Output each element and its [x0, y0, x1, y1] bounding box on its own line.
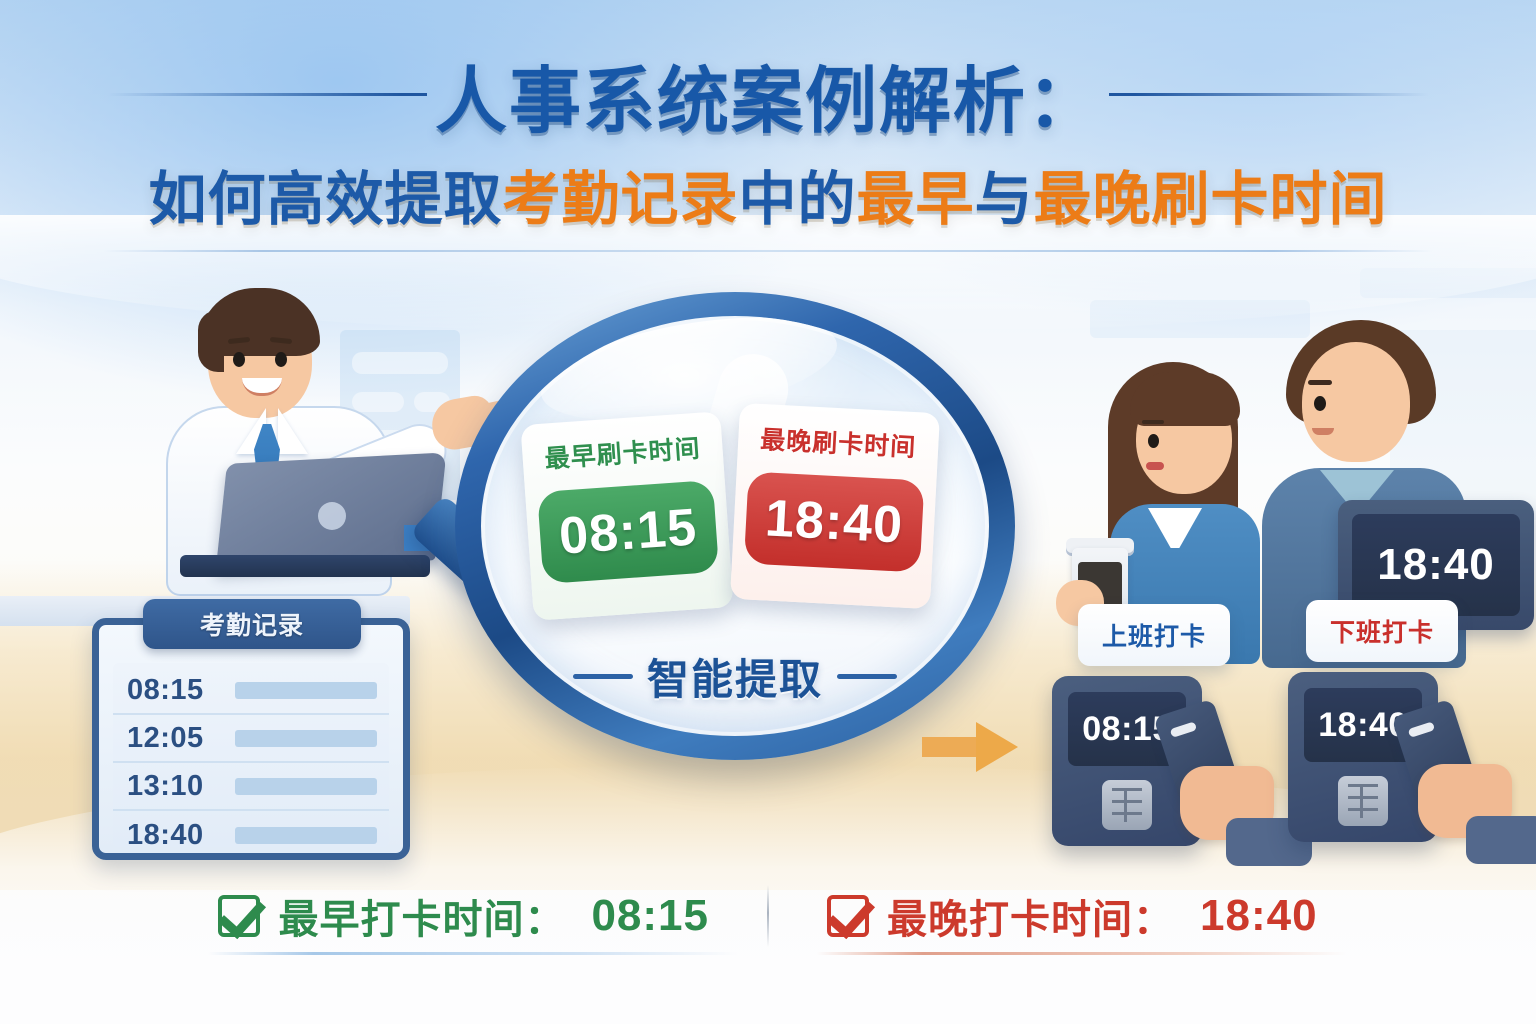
record-time: 12:05 — [127, 722, 235, 755]
card-sensor-icon — [1338, 776, 1388, 826]
wall-clock-time: 18:40 — [1377, 540, 1495, 590]
poster-header: 人事系统案例解析： 如何高效提取考勤记录中的最早与最晚刷卡时间 — [0, 38, 1536, 252]
latest-punch-value: 18:40 — [744, 471, 925, 572]
bg-panel — [1360, 268, 1536, 298]
summary-latest-value: 18:40 — [1200, 891, 1318, 941]
record-placeholder-bar — [235, 778, 377, 795]
lips — [1146, 462, 1164, 470]
page-subtitle: 如何高效提取考勤记录中的最早与最晚刷卡时间 — [0, 152, 1536, 236]
clipboard-title-label: 考勤记录 — [200, 606, 304, 642]
summary-underline — [208, 952, 737, 955]
check-in-badge-label: 上班打卡 — [1102, 617, 1206, 653]
laptop-logo — [318, 502, 346, 530]
title-rule-right — [1109, 93, 1429, 96]
record-placeholder-bar — [235, 730, 377, 747]
sleeve-cuff — [1466, 816, 1536, 864]
arrow-right-orange-icon — [922, 722, 1018, 772]
latest-punch-label: 最晚刷卡时间 — [750, 420, 928, 465]
check-out-badge: 下班打卡 — [1306, 600, 1458, 662]
title-rule-left — [107, 93, 427, 96]
subtitle-part-4: 最早 — [857, 167, 975, 232]
arrow-head — [976, 722, 1018, 772]
attendance-record-clipboard: 考勤记录 08:15 12:05 13:10 18:40 — [92, 618, 410, 860]
record-time: 18:40 — [127, 819, 235, 852]
smile — [1312, 428, 1334, 435]
summary-earliest: 最早打卡时间： 08:15 — [160, 887, 767, 945]
clipboard-list: 08:15 12:05 13:10 18:40 — [113, 663, 389, 847]
summary-earliest-label: 最早打卡时间： — [278, 887, 565, 945]
eye — [1148, 434, 1159, 448]
earliest-punch-label: 最早刷卡时间 — [533, 428, 711, 476]
laptop-base — [180, 555, 430, 577]
check-mark-icon — [218, 895, 260, 937]
subtitle-part-5: 与 — [975, 167, 1034, 232]
check-mark-icon — [827, 895, 869, 937]
list-item: 18:40 — [113, 811, 389, 859]
caption-rule-right — [837, 674, 897, 679]
magnifier-caption: 智能提取 — [481, 646, 989, 707]
subtitle-underline — [103, 250, 1433, 252]
record-placeholder-bar — [235, 682, 377, 699]
eyebrow — [1308, 380, 1332, 385]
eye — [1314, 396, 1326, 411]
arrow-shaft — [922, 737, 982, 757]
record-placeholder-bar — [235, 827, 377, 844]
magnifier-illustration: 最早刷卡时间 08:15 最晚刷卡时间 18:40 智能提取 — [455, 292, 1015, 760]
collar — [278, 408, 308, 454]
hair-side — [198, 310, 224, 372]
subtitle-part-2: 考勤记录 — [502, 167, 738, 232]
summary-latest: 最晚打卡时间： 18:40 — [769, 887, 1376, 945]
clipboard-title-tab: 考勤记录 — [143, 599, 361, 649]
record-time: 08:15 — [127, 674, 235, 707]
summary-underline — [817, 952, 1346, 955]
subtitle-part-1: 如何高效提取 — [148, 167, 502, 232]
eyebrow — [1142, 420, 1164, 424]
check-out-badge-label: 下班打卡 — [1330, 613, 1434, 649]
caption-rule-left — [573, 674, 633, 679]
summary-latest-label: 最晚打卡时间： — [887, 887, 1174, 945]
summary-footer: 最早打卡时间： 08:15 最晚打卡时间： 18:40 — [0, 868, 1536, 964]
card-sensor-icon — [1102, 780, 1152, 830]
latest-punch-card: 最晚刷卡时间 18:40 — [730, 403, 940, 609]
page-title: 人事系统案例解析： — [435, 42, 1101, 147]
list-item: 08:15 — [113, 667, 389, 715]
record-time: 13:10 — [127, 770, 235, 803]
earliest-punch-value: 08:15 — [537, 480, 719, 584]
result-cards: 最早刷卡时间 08:15 最晚刷卡时间 18:40 — [527, 408, 945, 604]
earliest-punch-card: 最早刷卡时间 08:15 — [520, 411, 733, 620]
subtitle-part-6: 最晚刷卡时间 — [1034, 167, 1388, 232]
check-in-badge: 上班打卡 — [1078, 604, 1230, 666]
list-item: 12:05 — [113, 715, 389, 763]
eye — [233, 352, 245, 367]
hair-fringe — [1130, 372, 1240, 426]
subtitle-part-3: 中的 — [738, 167, 856, 232]
infographic-poster: 人事系统案例解析： 如何高效提取考勤记录中的最早与最晚刷卡时间 — [0, 0, 1536, 1024]
list-item: 13:10 — [113, 763, 389, 811]
title-row: 人事系统案例解析： — [0, 38, 1536, 150]
eye — [275, 352, 287, 367]
caption-text: 智能提取 — [647, 646, 823, 707]
magnifier-lens: 最早刷卡时间 08:15 最晚刷卡时间 18:40 智能提取 — [481, 316, 989, 736]
summary-earliest-value: 08:15 — [591, 891, 709, 941]
